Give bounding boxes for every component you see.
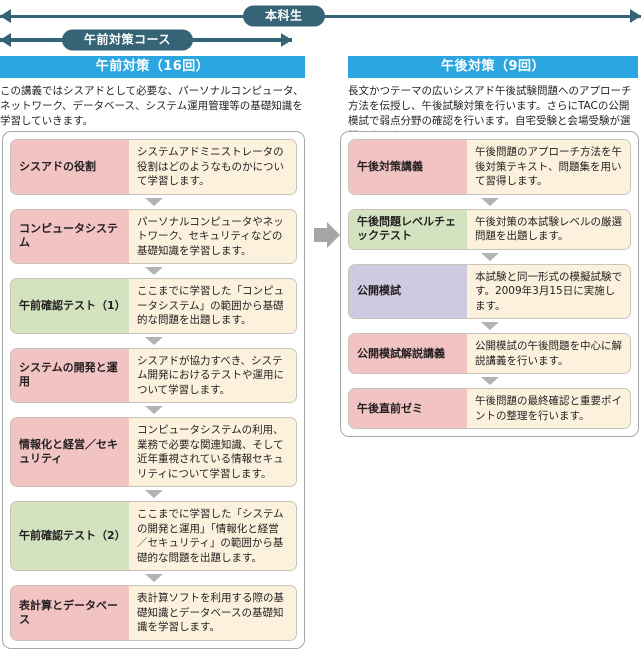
flow-step-label: シスアドの役割 [11,140,129,194]
flow-step-row: 情報化と経営／セキュリティコンピュータシステムの利用、業務で必要な関連知識、そし… [10,417,297,487]
flow-step-label: 午後直前ゼミ [349,389,467,428]
flow-step-label: コンピュータシステム [11,210,129,264]
flow-step-description: システムアドミニストレータの役割はどのようなものかについて学習します。 [129,140,296,194]
flow-step-description: 午後問題の最終確認と重要ポイントの整理を行います。 [467,389,630,428]
flow-step-label: 午後問題レベルチェックテスト [349,210,467,249]
flow-step-label: 午前確認テスト（1） [11,279,129,333]
scope-bar-gozen-course: 午前対策コース [0,29,292,51]
morning-to-afternoon-arrow-icon [314,222,340,256]
flow-down-arrow-icon [481,253,499,261]
flow-step-row: 午前確認テスト（2）ここまでに学習した「システムの開発と運用」「情報化と経営／セ… [10,501,297,571]
arrow-head-left-icon [0,9,11,23]
left-column-description: この講義ではシスアドとして必要な、パーソナルコンピュータ、ネットワーク、データベ… [0,84,305,129]
flow-down-arrow-icon [481,377,499,385]
flow-step-row: 午後直前ゼミ午後問題の最終確認と重要ポイントの整理を行います。 [348,388,631,429]
flow-down-arrow-icon [145,198,163,206]
right-column-flow: 午後対策講義午後問題のアプローチ方法を午後対策テキスト、問題集を用いて習得します… [348,139,631,429]
arrow-head-left-icon [0,33,11,47]
flow-down-arrow-icon [145,337,163,345]
flow-step-row: シスアドの役割システムアドミニストレータの役割はどのようなものかについて学習しま… [10,139,297,195]
flow-down-arrow-icon [481,322,499,330]
flow-down-arrow-icon [145,406,163,414]
flow-step-label: 公開模試解説講義 [349,334,467,373]
flow-step-row: 午後問題レベルチェックテスト午後対策の本試験レベルの厳選問題を出題します。 [348,209,631,250]
flow-step-row: コンピュータシステムパーソナルコンピュータやネットワーク、セキュリティなどの基礎… [10,209,297,265]
left-column-flow: シスアドの役割システムアドミニストレータの役割はどのようなものかについて学習しま… [10,139,297,641]
flow-step-row: 午後対策講義午後問題のアプローチ方法を午後対策テキスト、問題集を用いて習得します… [348,139,631,195]
flow-step-description: コンピュータシステムの利用、業務で必要な関連知識、そして近年重視されている情報セ… [129,418,296,486]
scope-label-honkasei: 本科生 [243,6,325,27]
arrow-head-right-icon [630,9,641,23]
flow-down-arrow-icon [145,490,163,498]
flow-step-description: 午後問題のアプローチ方法を午後対策テキスト、問題集を用いて習得します。 [467,140,630,194]
left-column-header: 午前対策（16回） [0,56,305,78]
flow-step-description: 本試験と同一形式の模擬試験です。2009年3月15日に実施します。 [467,265,630,319]
flow-step-row: 公開模試本試験と同一形式の模擬試験です。2009年3月15日に実施します。 [348,264,631,320]
flow-step-row: システムの開発と運用シスアドが協力すべき、システム開発におけるテストや運用につい… [10,348,297,404]
flow-step-label: システムの開発と運用 [11,349,129,403]
flow-step-row: 表計算とデータベース表計算ソフトを利用する際の基礎知識とデータベースの基礎知識を… [10,585,297,641]
flow-step-label: 午後対策講義 [349,140,467,194]
right-column-header: 午後対策（9回） [348,56,638,78]
flow-step-description: パーソナルコンピュータやネットワーク、セキュリティなどの基礎知識を学習します。 [129,210,296,264]
flow-down-arrow-icon [481,198,499,206]
flow-step-row: 午前確認テスト（1）ここまでに学習した「コンピュータシステム」の範囲から基礎的な… [10,278,297,334]
flow-step-label: 午前確認テスト（2） [11,502,129,570]
flow-down-arrow-icon [145,574,163,582]
flow-step-description: ここまでに学習した「コンピュータシステム」の範囲から基礎的な問題を出題します。 [129,279,296,333]
arrow-head-right-icon [281,33,292,47]
flow-step-label: 情報化と経営／セキュリティ [11,418,129,486]
flow-down-arrow-icon [145,267,163,275]
scope-bar-honkasei: 本科生 [0,5,641,27]
flow-step-row: 公開模試解説講義公開模試の午後問題を中心に解説講義を行います。 [348,333,631,374]
flow-step-label: 表計算とデータベース [11,586,129,640]
flow-step-description: 表計算ソフトを利用する際の基礎知識とデータベースの基礎知識を学習します。 [129,586,296,640]
flow-step-description: 公開模試の午後問題を中心に解説講義を行います。 [467,334,630,373]
flow-step-description: 午後対策の本試験レベルの厳選問題を出題します。 [467,210,630,249]
flow-step-description: ここまでに学習した「システムの開発と運用」「情報化と経営／セキュリティ」の範囲か… [129,502,296,570]
flow-step-label: 公開模試 [349,265,467,319]
scope-label-gozen-course: 午前対策コース [62,30,193,51]
flow-step-description: シスアドが協力すべき、システム開発におけるテストや運用について学習します。 [129,349,296,403]
